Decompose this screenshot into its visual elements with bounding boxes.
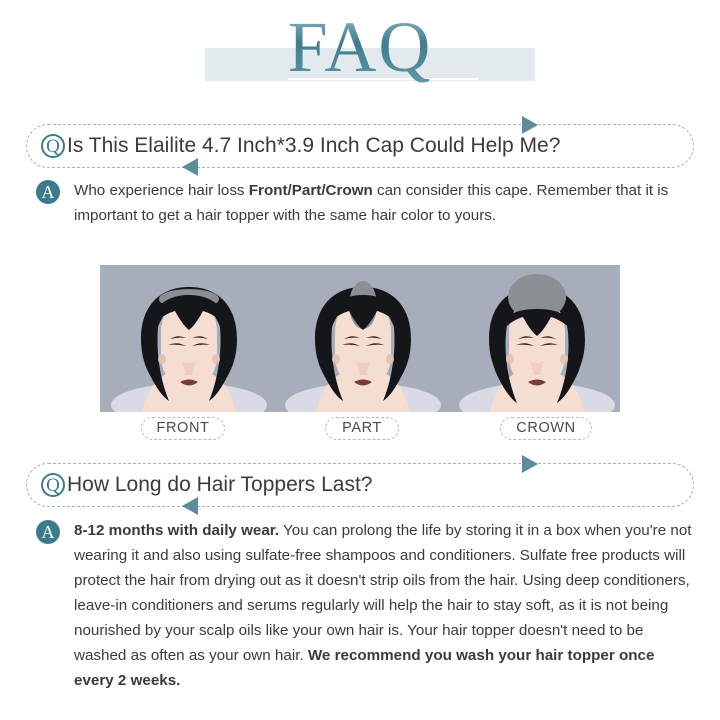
faq-page: FAQ Q Is This Elailite 4.7 Inch*3.9 Inch… [0, 0, 720, 720]
question-badge: Q [41, 134, 65, 158]
label-front: FRONT [141, 417, 225, 440]
question-text: How Long do Hair Toppers Last? [67, 473, 372, 497]
answer-row-1: A Who experience hair loss Front/Part/Cr… [36, 178, 696, 228]
figure-crown [450, 265, 620, 412]
figure-front [102, 265, 276, 412]
hair-loss-illustration-panel [100, 265, 620, 412]
page-title: FAQ [0, 8, 720, 86]
question-badge: Q [41, 473, 65, 497]
question-row-1[interactable]: Q Is This Elailite 4.7 Inch*3.9 Inch Cap… [26, 124, 694, 168]
answer-row-2: A 8-12 months with daily wear. You can p… [36, 518, 696, 693]
answer-badge: A [36, 180, 60, 204]
answer-text: Who experience hair loss Front/Part/Crow… [74, 178, 696, 228]
answer-badge: A [36, 520, 60, 544]
answer-text: 8-12 months with daily wear. You can pro… [74, 518, 696, 693]
label-crown: CROWN [500, 417, 592, 440]
question-content-2: Q How Long do Hair Toppers Last? [41, 464, 372, 506]
label-part: PART [325, 417, 399, 440]
arrow-right-icon [522, 455, 538, 473]
page-header: FAQ [0, 8, 720, 104]
question-row-2[interactable]: Q How Long do Hair Toppers Last? [26, 463, 694, 507]
figure-part [276, 265, 450, 412]
question-content-1: Q Is This Elailite 4.7 Inch*3.9 Inch Cap… [41, 125, 560, 167]
question-text: Is This Elailite 4.7 Inch*3.9 Inch Cap C… [67, 134, 560, 158]
